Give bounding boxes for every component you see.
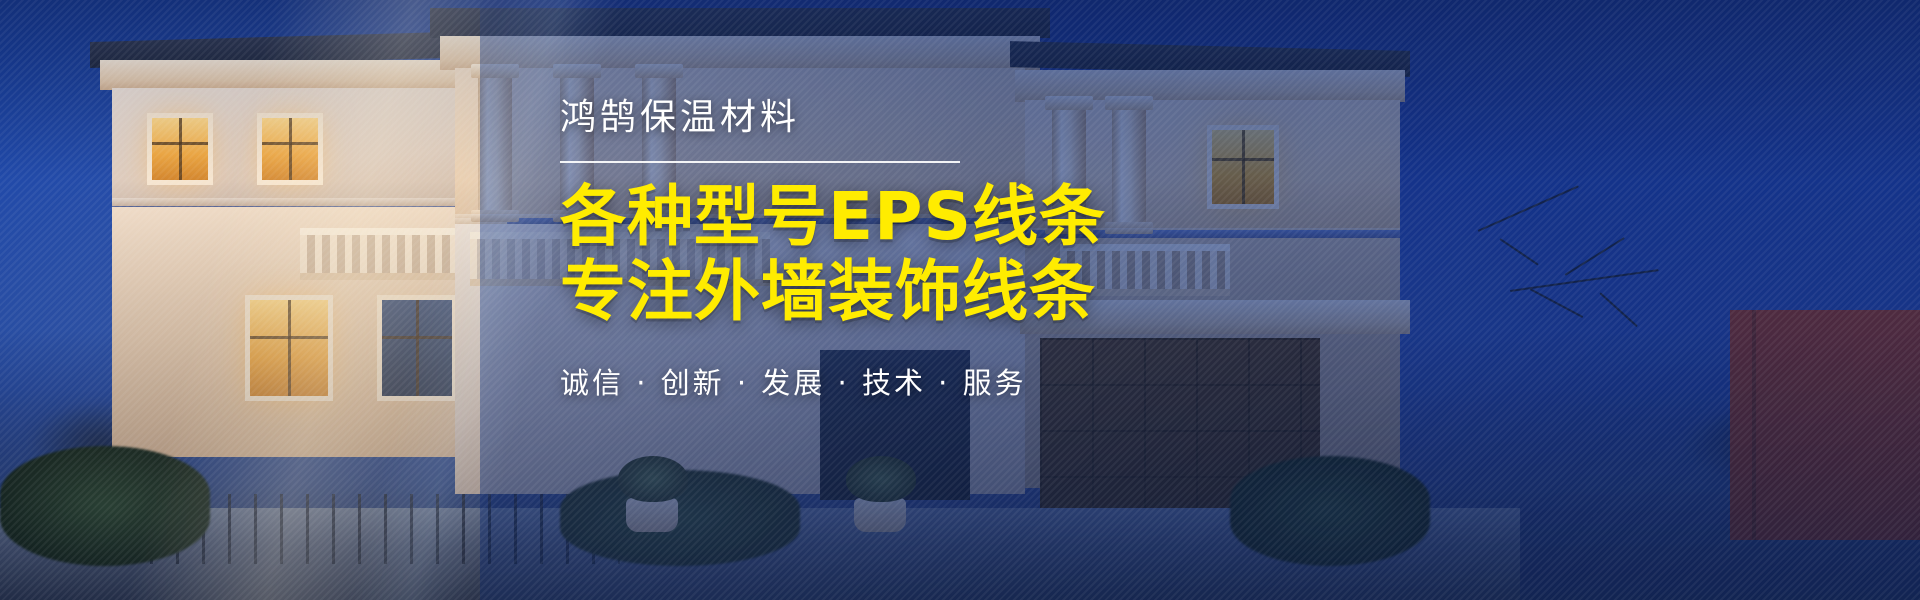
window-left-lower-2 — [382, 300, 452, 396]
banner-copy-block: 鸿鹄保温材料 各种型号EPS线条 专注外墙装饰线条 诚信 · 创新 · 发展 ·… — [560, 96, 1380, 402]
window-left-upper-1 — [152, 118, 208, 180]
brand-name: 鸿鹄保温材料 — [560, 96, 1380, 139]
hedge-left — [0, 446, 210, 566]
promotional-banner: 鸿鹄保温材料 各种型号EPS线条 专注外墙装饰线条 诚信 · 创新 · 发展 ·… — [0, 0, 1920, 600]
headline-line-2: 专注外墙装饰线条 — [560, 254, 1380, 329]
tagline: 诚信 · 创新 · 发展 · 技术 · 服务 — [560, 360, 1380, 402]
window-left-upper-2 — [262, 118, 318, 180]
window-left-lower-1 — [250, 300, 328, 396]
divider-rule — [560, 161, 960, 163]
string-course-left — [112, 198, 507, 207]
headline-line-1: 各种型号EPS线条 — [560, 179, 1380, 254]
